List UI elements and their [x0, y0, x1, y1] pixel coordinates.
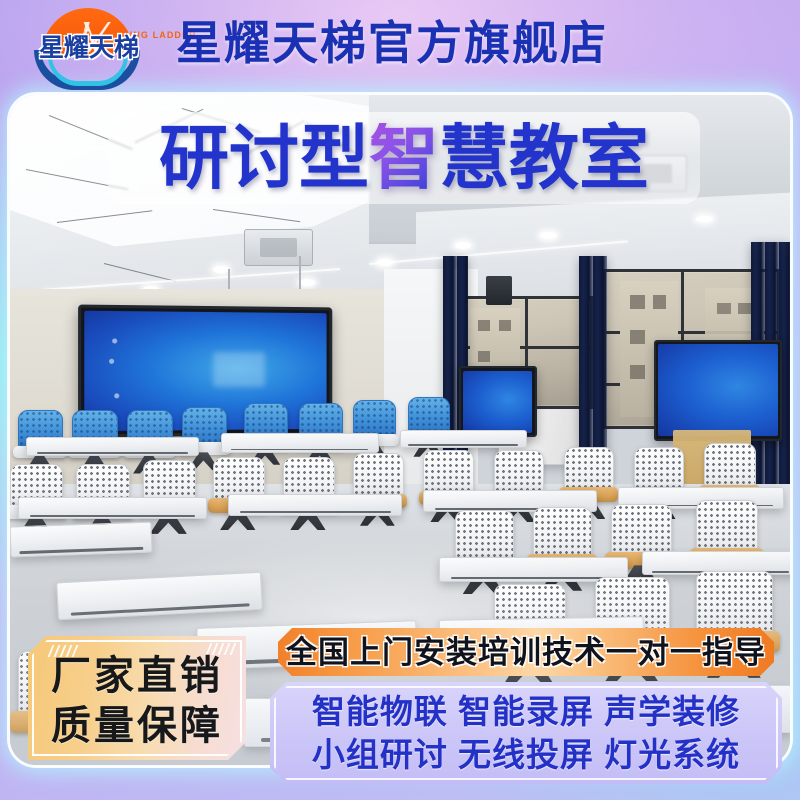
side-display-left: [459, 366, 537, 437]
service-banner: 全国上门安装培训技术一对一指导: [278, 628, 774, 676]
classroom-desk: [400, 430, 527, 448]
ceiling-downlight: [696, 216, 712, 223]
air-conditioner-vent: [244, 229, 313, 266]
main-title: 研讨型智慧教室: [108, 112, 700, 204]
features-row-2: 小组研讨 无线投屏 灯光系统: [270, 738, 782, 771]
ceiling-downlight: [213, 266, 229, 273]
screen-icon: [112, 338, 117, 343]
ceiling-downlight: [299, 279, 315, 286]
badge-line-2: 质量保障: [28, 706, 246, 746]
classroom-desk: [221, 433, 379, 452]
main-title-part-3: 慧教室: [439, 123, 649, 193]
guarantee-badge: 厂家直销 质量保障: [28, 636, 246, 760]
ceiling-downlight: [455, 242, 471, 249]
main-title-part-2: 智: [369, 123, 439, 193]
product-banner: ✦ STAR SHINING LADDER 星耀天梯 星耀天梯官方旗舰店 研讨型…: [0, 0, 800, 800]
classroom-desk: [18, 497, 207, 519]
classroom-desk: [228, 494, 402, 516]
features-row-1: 智能物联 智能录屏 声学装修: [270, 695, 782, 728]
service-banner-text: 全国上门安装培训技术一对一指导: [286, 637, 766, 668]
side-display-right: [654, 340, 783, 441]
logo-chinese-name: 星耀天梯: [22, 36, 156, 61]
classroom-desk: [26, 437, 200, 456]
brand-logo[interactable]: ✦ STAR SHINING LADDER 星耀天梯: [22, 6, 156, 88]
header: ✦ STAR SHINING LADDER 星耀天梯 星耀天梯官方旗舰店: [0, 0, 800, 92]
main-title-part-1: 研讨型: [159, 123, 369, 193]
wall-speaker: [486, 276, 513, 305]
main-title-banner: 研讨型智慧教室: [108, 112, 700, 204]
classroom-desk: [10, 521, 153, 557]
features-panel: 智能物联 智能录屏 声学装修 小组研讨 无线投屏 灯光系统: [270, 682, 782, 784]
shop-title: 星耀天梯官方旗舰店: [176, 16, 608, 70]
ceiling-downlight: [540, 232, 556, 239]
badge-line-1: 厂家直销: [28, 656, 246, 696]
